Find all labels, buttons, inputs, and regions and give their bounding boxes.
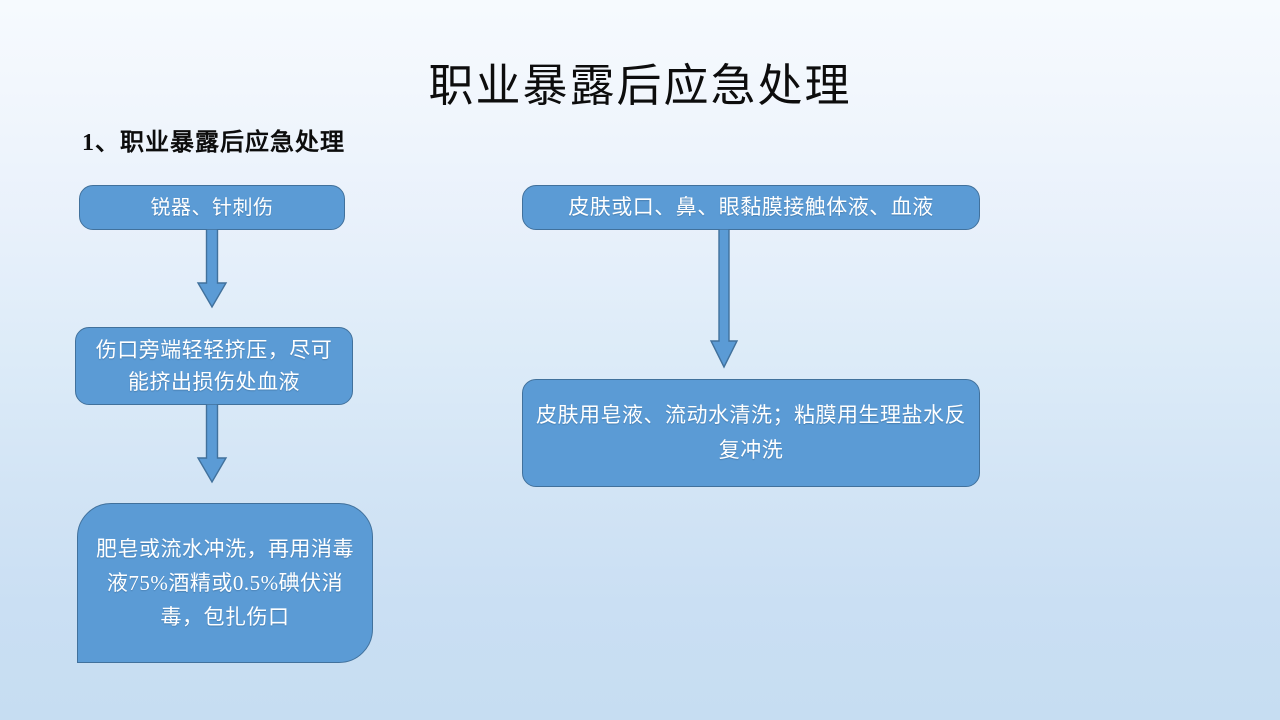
down-arrow-icon bbox=[192, 229, 232, 309]
flow-node-label: 锐器、针刺伤 bbox=[80, 194, 344, 222]
flow-node-label: 肥皂或流水冲洗，再用消毒液75%酒精或0.5%碘伏消毒，包扎伤口 bbox=[78, 532, 372, 634]
flow-node-squeeze-wound[interactable]: 伤口旁端轻轻挤压，尽可能挤出损伤处血液 bbox=[75, 327, 353, 405]
flow-node-wash-disinfect-dress[interactable]: 肥皂或流水冲洗，再用消毒液75%酒精或0.5%碘伏消毒，包扎伤口 bbox=[77, 503, 373, 663]
flow-node-label: 皮肤用皂液、流动水清洗；粘膜用生理盐水反复冲洗 bbox=[523, 398, 979, 468]
page-title: 职业暴露后应急处理 bbox=[0, 58, 1280, 114]
down-arrow-icon bbox=[192, 404, 232, 484]
slide-canvas: 职业暴露后应急处理 1、职业暴露后应急处理 锐器、针刺伤 伤口旁端轻轻挤压，尽可… bbox=[0, 0, 1280, 720]
flow-node-label: 皮肤或口、鼻、眼黏膜接触体液、血液 bbox=[523, 193, 979, 222]
flow-node-label: 伤口旁端轻轻挤压，尽可能挤出损伤处血液 bbox=[76, 334, 352, 398]
section-heading: 1、职业暴露后应急处理 bbox=[82, 126, 345, 160]
down-arrow-icon bbox=[704, 229, 744, 369]
flow-node-mucosa-contact[interactable]: 皮肤或口、鼻、眼黏膜接触体液、血液 bbox=[522, 185, 980, 230]
flow-node-rinse-skin-mucosa[interactable]: 皮肤用皂液、流动水清洗；粘膜用生理盐水反复冲洗 bbox=[522, 379, 980, 487]
flow-node-sharps-injury[interactable]: 锐器、针刺伤 bbox=[79, 185, 345, 230]
